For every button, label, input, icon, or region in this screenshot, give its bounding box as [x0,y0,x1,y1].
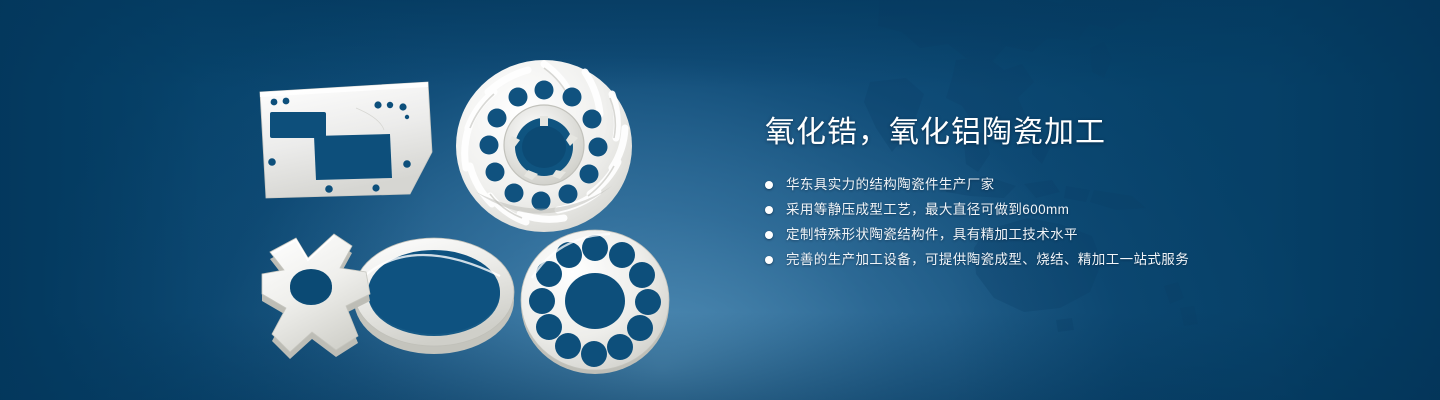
ceramic-cross-shaped-plate [248,228,448,368]
list-item: 华东具实力的结构陶瓷件生产厂家 [765,176,1385,194]
list-item: 定制特殊形状陶瓷结构件，具有精加工技术水平 [765,226,1385,244]
bullet-text: 完善的生产加工设备，可提供陶瓷成型、烧结、精加工一站式服务 [786,251,1189,269]
bullet-text: 华东具实力的结构陶瓷件生产厂家 [786,176,995,194]
product-image-group [0,0,720,400]
ceramic-perforated-disc [518,226,672,374]
list-item: 完善的生产加工设备，可提供陶瓷成型、烧结、精加工一站式服务 [765,251,1385,269]
list-item: 采用等静压成型工艺，最大直径可做到600mm [765,201,1385,219]
bullet-text: 采用等静压成型工艺，最大直径可做到600mm [786,201,1069,219]
banner-headline: 氧化锆，氧化铝陶瓷加工 [765,112,1385,154]
dot-bullet-icon [765,256,773,264]
hero-banner: 氧化锆，氧化铝陶瓷加工 华东具实力的结构陶瓷件生产厂家 采用等静压成型工艺，最大… [0,0,1440,400]
dot-bullet-icon [765,181,773,189]
dot-bullet-icon [765,231,773,239]
ceramic-plate-with-cutouts [252,78,440,202]
feature-bullet-list: 华东具实力的结构陶瓷件生产厂家 采用等静压成型工艺，最大直径可做到600mm 定… [765,176,1385,269]
banner-copy: 氧化锆，氧化铝陶瓷加工 华东具实力的结构陶瓷件生产厂家 采用等静压成型工艺，最大… [765,112,1385,276]
dot-bullet-icon [765,206,773,214]
bullet-text: 定制特殊形状陶瓷结构件，具有精加工技术水平 [786,226,1078,244]
ceramic-vaned-impeller-disc [452,52,636,236]
